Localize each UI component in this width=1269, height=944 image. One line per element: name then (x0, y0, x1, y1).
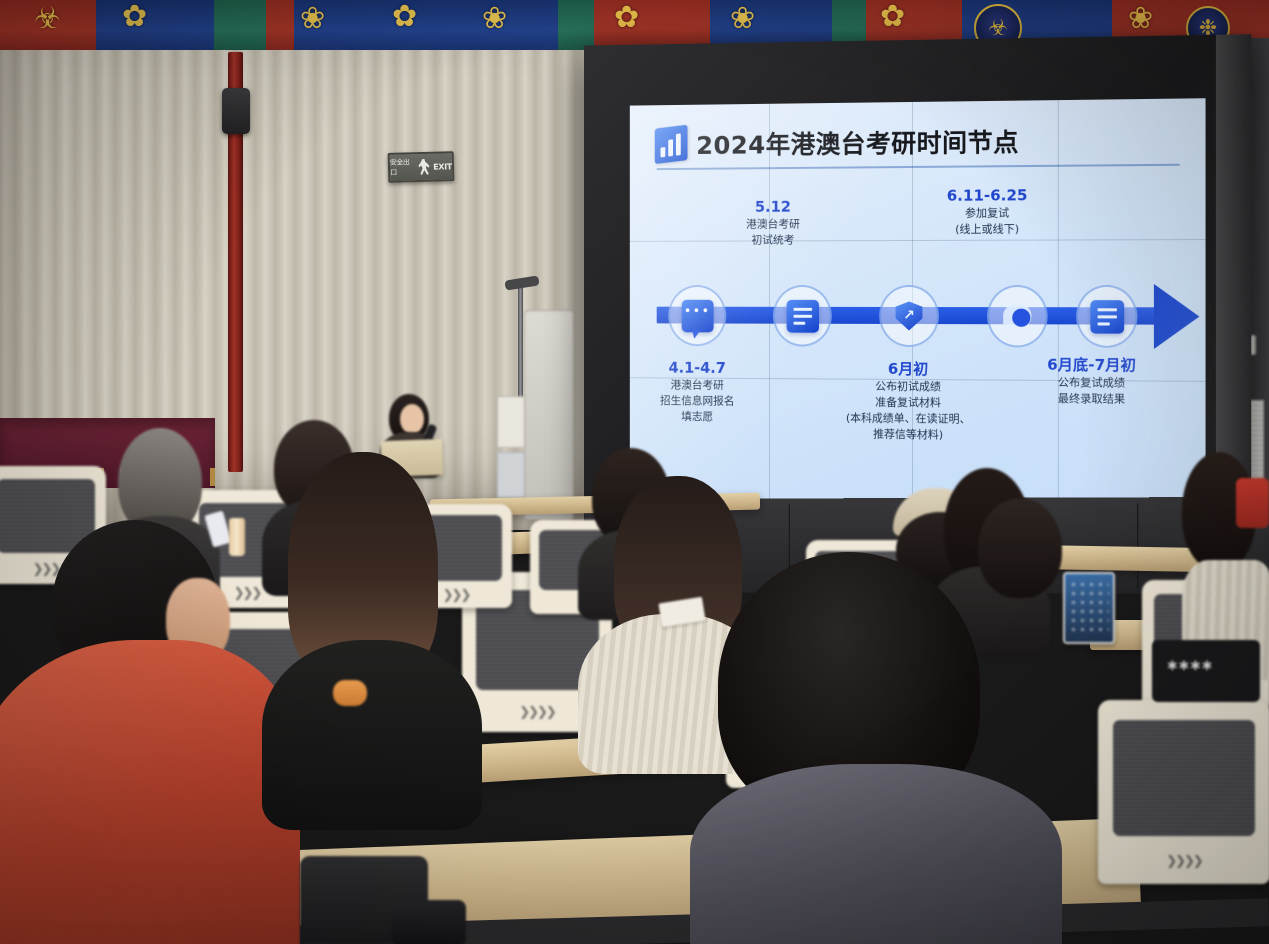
milestone-top-2: 6.11-6.25 参加复试 (线上或线下) (912, 186, 1063, 238)
chat-dots-icon: ••• (681, 299, 713, 332)
milestone-line: 港澳台考研 (700, 216, 847, 232)
chair-vent-icon: ❯❯❯❯ (495, 700, 579, 724)
milestone-line: 公布初试成绩 (824, 378, 993, 395)
audience-body-orange-hoodie (0, 640, 300, 944)
timeline-node-2[interactable] (773, 285, 832, 347)
milestone-date: 4.1-4.7 (630, 359, 780, 378)
milestone-line: 公布复试成绩 (1005, 374, 1178, 391)
audience-head (978, 498, 1062, 598)
milestone-date: 6月底-7月初 (1005, 355, 1178, 375)
bar-chart-icon (655, 125, 688, 164)
milestone-line: 填志愿 (630, 408, 780, 425)
milestone-line: (线上或线下) (912, 221, 1063, 238)
wall-panel (497, 396, 525, 448)
audience-body-black-coat (262, 640, 482, 830)
milestone-bottom-1: 4.1-4.7 港澳台考研 招生信息网报名 填志愿 (630, 359, 780, 426)
milestone-top-1: 5.12 港澳台考研 初试统考 (700, 197, 847, 248)
tablet-device[interactable] (1063, 572, 1115, 644)
timeline-node-4[interactable] (987, 285, 1048, 348)
shield-chart-icon: ↗ (893, 299, 926, 332)
document-form-icon (786, 299, 818, 332)
milestone-date: 6.11-6.25 (912, 186, 1063, 206)
dragon-motif: ✿ (880, 2, 905, 32)
ceiling-speaker (222, 88, 250, 134)
slide-title: 2024年港澳台考研时间节点 (696, 123, 1019, 162)
milestone-line: 最终录取结果 (1005, 390, 1178, 407)
exit-sign: 安全出口 EXIT (388, 151, 455, 183)
chair[interactable]: ❯❯❯❯ (1098, 700, 1269, 884)
timeline-arrow-right (1154, 284, 1199, 349)
milestone-line: 港澳台考研 (630, 377, 780, 394)
timeline-node-1[interactable]: ••• (668, 285, 726, 346)
speech-bubble-icon (1001, 300, 1034, 333)
milestone-line: 推荐信等材料) (824, 426, 993, 444)
dragon-motif: ❀ (730, 4, 755, 34)
milestone-line: 参加复试 (912, 205, 1063, 222)
milestone-line: 准备复试材料 (824, 394, 993, 411)
timeline-node-3[interactable]: ↗ (879, 285, 939, 347)
milestone-date: 6月初 (824, 360, 993, 380)
camera-object (392, 900, 466, 944)
timeline-node-5[interactable] (1076, 285, 1137, 348)
dragon-motif: ❀ (482, 4, 507, 34)
bag-logo: ∗∗∗∗ (1166, 656, 1250, 682)
chair-vent-icon: ❯❯❯❯ (1136, 847, 1232, 875)
milestone-date: 5.12 (700, 197, 847, 216)
air-conditioner-unit (524, 310, 574, 520)
title-underline (657, 164, 1180, 170)
water-bottle (229, 518, 245, 556)
milestone-line: (本科成绩单、在读证明、 (824, 410, 993, 427)
dragon-motif: ❀ (300, 4, 325, 34)
dragon-motif: ☣ (34, 4, 61, 34)
milestone-bottom-2: 6月初 公布初试成绩 准备复试材料 (本科成绩单、在读证明、 推荐信等材料) (824, 360, 993, 444)
milestone-bottom-3: 6月底-7月初 公布复试成绩 最终录取结果 (1005, 355, 1178, 407)
milestone-line: 招生信息网报名 (630, 393, 780, 410)
dragon-motif: ✿ (392, 2, 417, 32)
exit-sign-english-label: EXIT (433, 162, 452, 171)
running-person-exit-icon (417, 159, 430, 175)
milestone-line: 初试统考 (700, 232, 847, 248)
foreground-audience-body (690, 764, 1062, 944)
exit-sign-chinese-label: 安全出口 (390, 157, 415, 178)
presentation-room-photo: ☣ ✿ ❀ ✿ ❀ ✿ ❀ ✿ ❀ ☣ ❉ (0, 0, 1269, 944)
wall-panel (497, 452, 525, 498)
dragon-motif: ✿ (614, 3, 639, 33)
video-wall-display[interactable]: 2024年港澳台考研时间节点 5.12 港澳台考研 初试统考 6.11-6.25… (584, 34, 1251, 541)
backpack: ∗∗∗∗ (1152, 640, 1260, 702)
plush-keychain (333, 680, 367, 706)
dragon-motif: ❀ (1128, 4, 1153, 34)
slide-screen: 2024年港澳台考研时间节点 5.12 港澳台考研 初试统考 6.11-6.25… (630, 98, 1206, 521)
document-form-icon (1090, 300, 1124, 334)
red-garment (1236, 478, 1269, 528)
dragon-motif: ✿ (122, 2, 147, 32)
presenter-face (400, 404, 424, 434)
slide-title-row: 2024年港澳台考研时间节点 (655, 123, 1019, 162)
